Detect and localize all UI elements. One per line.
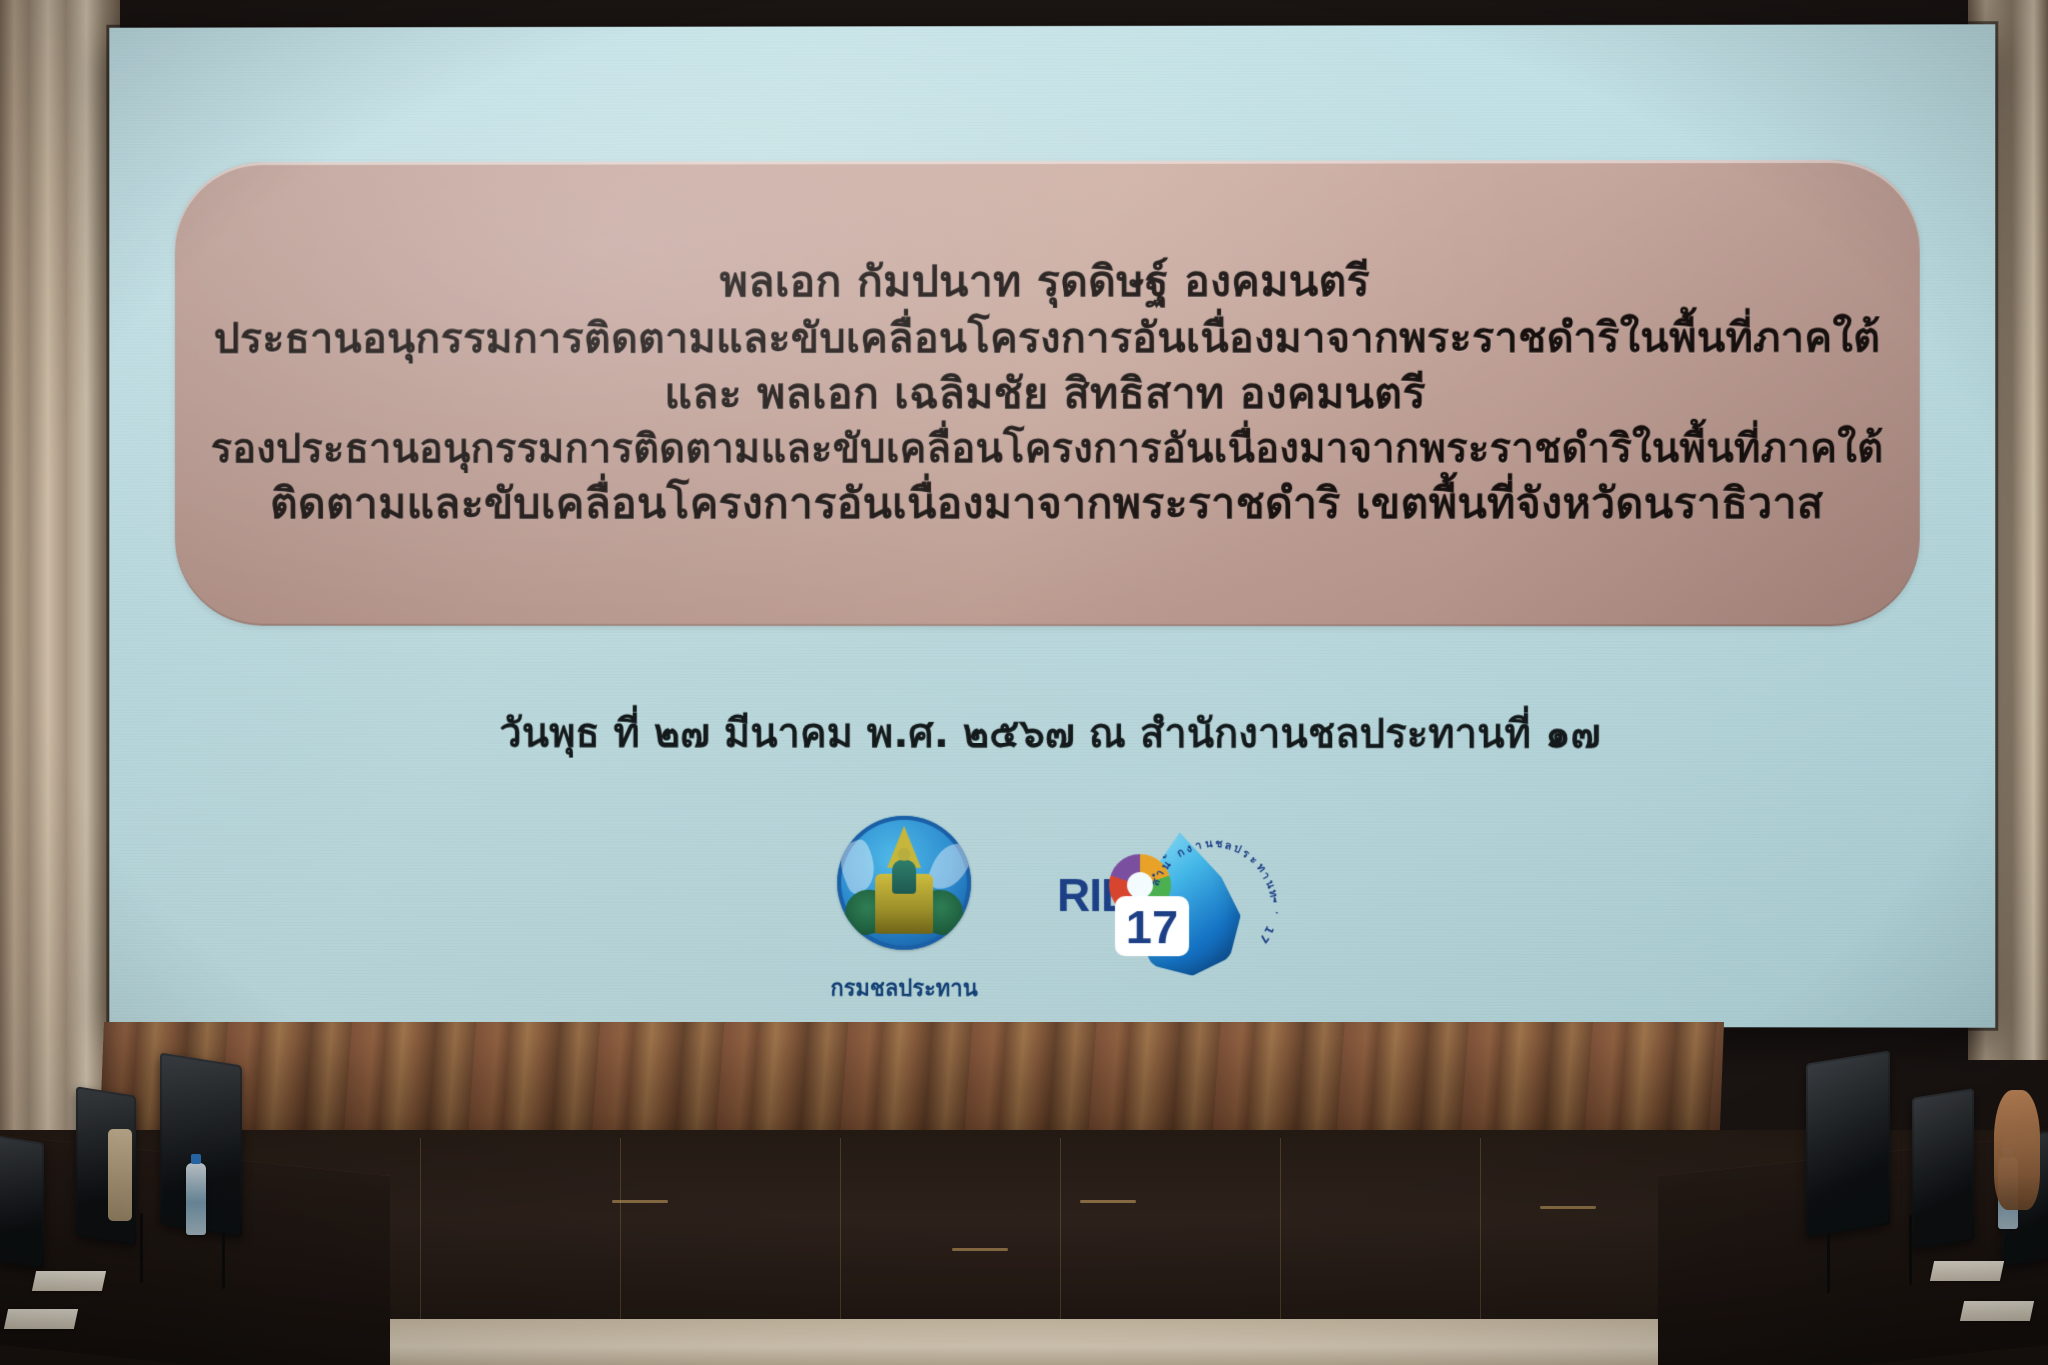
conference-room-scene: พลเอก กัมปนาท รุดดิษฐ์ องคมนตรี ประธานอน… [0, 0, 2048, 1365]
seal-caption: กรมชลประทาน [829, 971, 979, 1006]
monitor-bezel [0, 1138, 42, 1267]
plaque-line-1: พลเอก กัมปนาท รุดดิษฐ์ องคมนตรี [720, 257, 1370, 308]
monitor-cable [222, 1231, 225, 1289]
podium-seam [840, 1138, 841, 1328]
rid-arc-label: สำนักงานชลประทานที่ 17 [1179, 826, 1271, 976]
left-wall-panel [0, 0, 120, 1180]
podium-seam [620, 1138, 621, 1328]
monitor-bezel [1914, 1090, 1972, 1247]
plaque-line-5: ติดตามและขับเคลื่อนโครงการอันเนื่องมาจาก… [270, 479, 1823, 530]
slide-title-plaque: พลเอก กัมปนาท รุดดิษฐ์ องคมนตรี ประธานอน… [175, 160, 1920, 626]
monitor-cable [1827, 1233, 1830, 1293]
monitor-cable [140, 1213, 143, 1283]
vacuum-flask[interactable] [108, 1129, 132, 1221]
podium-handle[interactable] [612, 1200, 668, 1203]
paper-stack[interactable] [32, 1271, 106, 1291]
rid-17-water-droplet-icon: RID 17 สำนักงานชลประทานที่ 17 [1053, 824, 1269, 1000]
rid-number-badge: 17 [1115, 896, 1189, 956]
podium-handle[interactable] [952, 1248, 1008, 1251]
monitor[interactable] [0, 1135, 44, 1269]
right-conference-desk [1638, 1035, 2048, 1365]
water-bottle[interactable] [186, 1163, 206, 1235]
paper-stack[interactable] [4, 1309, 78, 1329]
left-conference-desk [0, 1035, 410, 1365]
podium-handle[interactable] [1080, 1200, 1136, 1203]
projection-screen: พลเอก กัมปนาท รุดดิษฐ์ องคมนตรี ประธานอน… [109, 24, 1995, 1027]
paper-stack[interactable] [1960, 1301, 2034, 1321]
plaque-line-3: และ พลเอก เฉลิมชัย สิทธิสาท องคมนตรี [664, 369, 1425, 420]
monitor[interactable] [1806, 1050, 1890, 1237]
seal-deity-figure [892, 860, 916, 894]
monitor[interactable] [1912, 1088, 1974, 1250]
plaque-line-2: ประธานอนุกรรมการติดตามและขับเคลื่อนโครงก… [214, 313, 1881, 363]
podium-seam [1280, 1138, 1281, 1328]
plaque-line-4: รองประธานอนุกรรมการติดตามและขับเคลื่อนโค… [211, 425, 1884, 473]
event-datetime-line: วันพุธ ที่ ๒๗ มีนาคม พ.ศ. ๒๕๖๗ ณ สำนักงา… [109, 700, 1995, 765]
monitor-bezel [1808, 1053, 1888, 1236]
paper-stack[interactable] [1930, 1261, 2004, 1281]
podium-seam [420, 1138, 421, 1328]
podium-seam [1060, 1138, 1061, 1328]
royal-irrigation-department-seal-icon: กรมชลประทาน [829, 816, 979, 1008]
monitor-cable [1909, 1215, 1912, 1285]
seal-disc [837, 816, 971, 950]
attendee-silhouette [1994, 1090, 2040, 1210]
podium-handle[interactable] [1540, 1206, 1596, 1209]
slide-logo-row: กรมชลประทาน RID 17 สำนักงานชลประทานที่ 1… [109, 815, 1995, 1010]
tiled-floor [300, 1319, 1700, 1365]
podium-seam [1480, 1138, 1481, 1328]
